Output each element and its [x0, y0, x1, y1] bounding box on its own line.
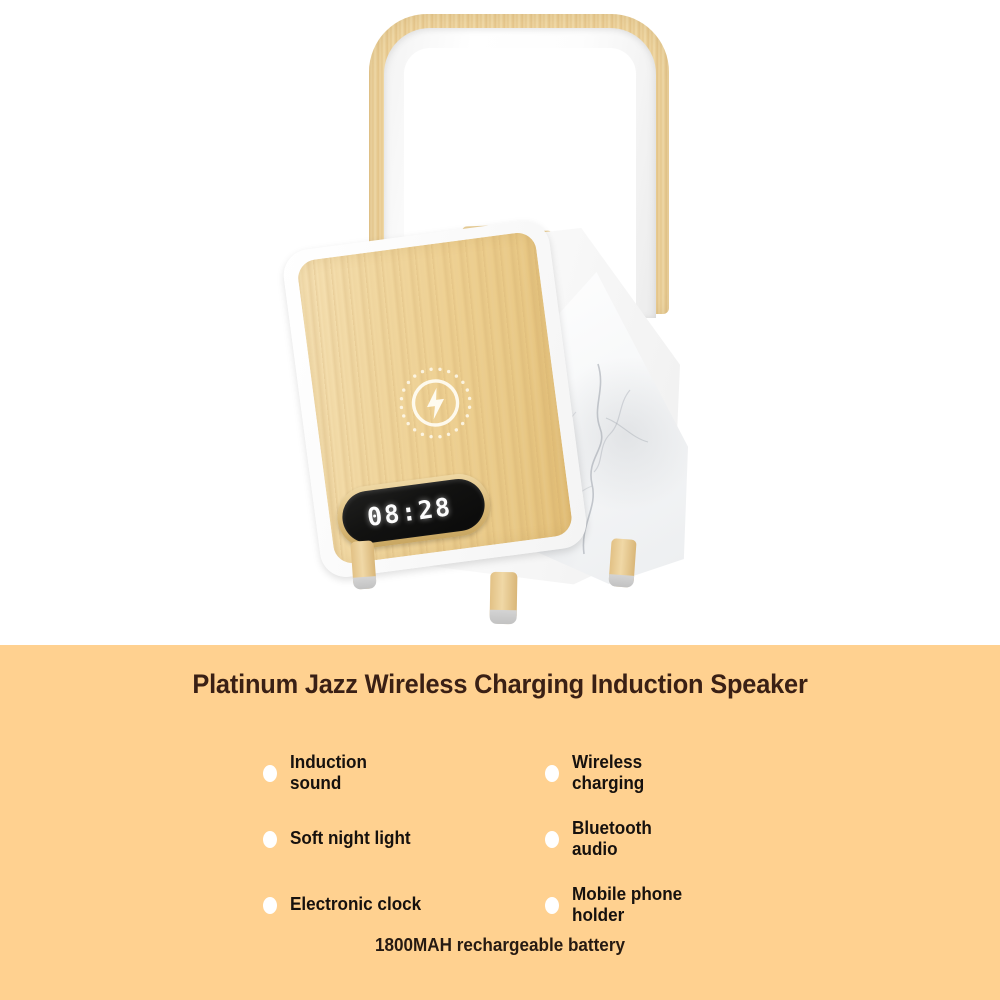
leg-right [608, 538, 636, 588]
feature-label: Wireless charging [572, 752, 644, 794]
foot-pad-right [608, 574, 634, 588]
feature-column-left: Induction sound Soft night light Electro… [258, 740, 538, 938]
foot-pad-center [490, 610, 517, 624]
list-item: Mobile phone holder [540, 872, 820, 938]
feature-label: Soft night light [290, 828, 411, 849]
feature-label: Mobile phone holder [572, 884, 682, 926]
foot-pad-left [353, 576, 377, 590]
leg-center [490, 572, 518, 624]
bullet-icon [263, 897, 277, 914]
list-item: Wireless charging [540, 740, 820, 806]
bullet-icon [263, 831, 277, 848]
leg-left [350, 540, 376, 589]
feature-label: Bluetooth audio [572, 818, 652, 860]
battery-spec: 1800MAH rechargeable battery [25, 935, 975, 956]
product-device: 08:28 [0, 0, 1000, 645]
feature-column-right: Wireless charging Bluetooth audio Mobile… [540, 740, 820, 938]
feature-label: Induction sound [290, 752, 367, 794]
bullet-icon [545, 897, 559, 914]
feature-label: Electronic clock [290, 894, 421, 915]
list-item: Induction sound [258, 740, 538, 806]
product-photo: 08:28 [0, 0, 1000, 645]
clock-time: 08:28 [365, 492, 453, 532]
product-listing-image: 08:28 Platinum Jazz Wireless Charging In… [0, 0, 1000, 1000]
list-item: Bluetooth audio [540, 806, 820, 872]
list-item: Soft night light [258, 806, 538, 872]
wireless-charging-bolt-icon [382, 349, 490, 457]
bullet-icon [545, 765, 559, 782]
bullet-icon [263, 765, 277, 782]
product-info-panel: Platinum Jazz Wireless Charging Inductio… [0, 645, 1000, 1000]
product-title: Platinum Jazz Wireless Charging Inductio… [30, 669, 970, 700]
list-item: Electronic clock [258, 872, 538, 938]
bullet-icon [545, 831, 559, 848]
